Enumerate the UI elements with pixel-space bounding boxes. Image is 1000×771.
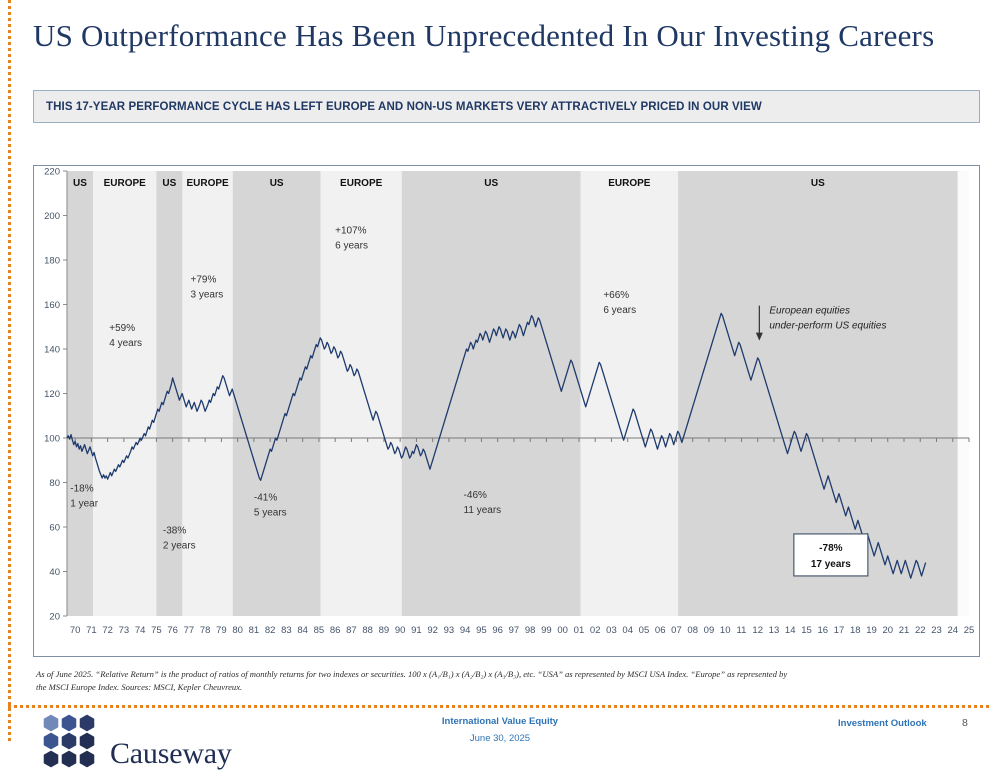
annotation-duration: 6 years [335, 240, 368, 251]
x-tick-label: 02 [590, 625, 601, 636]
subtitle-text: THIS 17-YEAR PERFORMANCE CYCLE HAS LEFT … [46, 101, 762, 113]
x-tick-label: 70 [70, 625, 81, 636]
x-tick-label: 04 [622, 625, 633, 636]
band-label: US [270, 178, 284, 189]
band-label: US [484, 178, 498, 189]
x-tick-label: 03 [606, 625, 617, 636]
boxed-annotation-change: -78% [819, 543, 842, 554]
x-tick-label: 19 [866, 625, 877, 636]
regime-band-europe-1 [93, 171, 156, 616]
x-tick-label: 10 [720, 625, 731, 636]
x-tick-label: 78 [200, 625, 211, 636]
logo-hex-0-1 [62, 715, 77, 732]
x-tick-label: 07 [671, 625, 682, 636]
footer-center: International Value Equity June 30, 2025 [360, 716, 640, 744]
x-tick-label: 91 [411, 625, 422, 636]
x-tick-label: 76 [167, 625, 178, 636]
x-tick-label: 89 [379, 625, 390, 636]
x-tick-label: 21 [899, 625, 910, 636]
y-tick-label: 120 [44, 389, 60, 400]
footnote-line-1: As of June 2025. “Relative Return” is th… [36, 668, 971, 681]
x-tick-label: 99 [541, 625, 552, 636]
annotation-duration: 4 years [109, 338, 142, 349]
x-tick-label: 06 [655, 625, 666, 636]
logo-hex-2-1 [62, 751, 77, 768]
regime-band-us-6 [402, 171, 581, 616]
x-tick-label: 97 [509, 625, 520, 636]
band-label: EUROPE [608, 178, 651, 189]
y-tick-label: 20 [49, 612, 60, 623]
boxed-annotation-duration: 17 years [811, 559, 851, 570]
y-tick-label: 60 [49, 523, 60, 534]
x-tick-label: 93 [444, 625, 455, 636]
annotation-duration: 3 years [191, 289, 224, 300]
annotation-change: +107% [335, 225, 367, 236]
footer-strategy: International Value Equity [360, 716, 640, 727]
x-tick-label: 92 [427, 625, 438, 636]
footer-date: June 30, 2025 [360, 733, 640, 744]
footnote: As of June 2025. “Relative Return” is th… [36, 668, 971, 695]
relative-return-chart: USEUROPEUSEUROPEUSEUROPEUSEUROPEUS204060… [34, 166, 979, 656]
annotation-change: -18% [70, 483, 93, 494]
x-tick-label: 87 [346, 625, 357, 636]
band-label: EUROPE [104, 178, 147, 189]
logo-hex-grid-icon [42, 714, 114, 768]
x-tick-label: 11 [737, 625, 747, 636]
callout-line-1: European equities [769, 306, 850, 317]
x-tick-label: 22 [915, 625, 926, 636]
x-tick-label: 85 [314, 625, 325, 636]
annotation-change: +59% [109, 323, 135, 334]
regime-band-europe-7 [581, 171, 679, 616]
y-tick-label: 140 [44, 345, 60, 356]
x-tick-label: 74 [135, 625, 146, 636]
x-tick-label: 17 [834, 625, 845, 636]
annotation-duration: 1 year [70, 498, 98, 509]
x-tick-label: 09 [704, 625, 715, 636]
x-tick-label: 82 [265, 625, 276, 636]
x-tick-label: 71 [86, 625, 97, 636]
x-tick-label: 14 [785, 625, 796, 636]
x-tick-label: 16 [817, 625, 828, 636]
left-accent-rail [8, 0, 11, 744]
logo-hex-1-1 [62, 733, 77, 750]
x-tick-label: 98 [525, 625, 536, 636]
x-tick-label: 75 [151, 625, 162, 636]
band-label: EUROPE [186, 178, 229, 189]
page-title: US Outperformance Has Been Unprecedented… [33, 18, 973, 54]
band-label: EUROPE [340, 178, 383, 189]
x-tick-label: 13 [769, 625, 780, 636]
chart-container: USEUROPEUSEUROPEUSEUROPEUSEUROPEUS204060… [33, 165, 980, 657]
x-tick-label: 15 [801, 625, 812, 636]
callout-line-2: under-perform US equities [769, 321, 886, 332]
x-tick-label: 24 [947, 625, 958, 636]
annotation-change: -46% [464, 490, 487, 501]
subtitle-banner: THIS 17-YEAR PERFORMANCE CYCLE HAS LEFT … [33, 90, 980, 123]
logo-hex-2-0 [44, 751, 59, 768]
x-tick-label: 73 [119, 625, 130, 636]
regime-band-us-0 [67, 171, 93, 616]
annotation-duration: 5 years [254, 507, 287, 518]
y-tick-label: 100 [44, 434, 60, 445]
annotation-duration: 6 years [603, 305, 636, 316]
regime-band-us-4 [233, 171, 321, 616]
x-tick-label: 05 [639, 625, 650, 636]
x-tick-label: 18 [850, 625, 861, 636]
logo-wordmark: Causeway [110, 737, 232, 771]
y-tick-label: 40 [49, 567, 60, 578]
x-tick-label: 00 [557, 625, 568, 636]
x-tick-label: 12 [752, 625, 763, 636]
footnote-line-2: the MSCI Europe Index. Sources: MSCI, Ke… [36, 681, 971, 694]
x-tick-label: 94 [460, 625, 471, 636]
x-tick-label: 84 [297, 625, 308, 636]
y-tick-label: 200 [44, 211, 60, 222]
annotation-change: +79% [191, 274, 217, 285]
x-tick-label: 77 [184, 625, 195, 636]
page-number: 8 [962, 717, 968, 729]
x-tick-label: 83 [281, 625, 292, 636]
x-tick-label: 25 [964, 625, 975, 636]
band-label: US [811, 178, 825, 189]
x-tick-label: 90 [395, 625, 406, 636]
annotation-change: -38% [163, 526, 186, 537]
band-label: US [73, 178, 87, 189]
annotation-duration: 2 years [163, 541, 196, 552]
logo-hex-2-2 [80, 751, 95, 768]
logo-hex-1-2 [80, 733, 95, 750]
x-tick-label: 72 [102, 625, 113, 636]
y-tick-label: 160 [44, 300, 60, 311]
x-tick-label: 23 [931, 625, 942, 636]
regime-band-europe-5 [321, 171, 402, 616]
x-tick-label: 79 [216, 625, 227, 636]
band-label: US [162, 178, 176, 189]
page-footer: Causeway International Value Equity June… [0, 708, 1000, 767]
annotation-change: -41% [254, 492, 277, 503]
x-tick-label: 08 [687, 625, 698, 636]
annotation-change: +66% [603, 290, 629, 301]
causeway-logo: Causeway [42, 714, 252, 768]
x-tick-label: 88 [362, 625, 373, 636]
logo-hex-0-0 [44, 715, 59, 732]
footer-right-label: Investment Outlook [838, 718, 927, 729]
x-tick-label: 81 [249, 625, 260, 636]
y-tick-label: 220 [44, 167, 60, 178]
x-tick-label: 01 [574, 625, 585, 636]
annotation-duration: 11 years [464, 505, 502, 516]
x-tick-label: 80 [232, 625, 243, 636]
x-tick-label: 20 [882, 625, 893, 636]
logo-hex-0-2 [80, 715, 95, 732]
x-tick-label: 95 [476, 625, 487, 636]
x-tick-label: 96 [492, 625, 503, 636]
x-tick-label: 86 [330, 625, 341, 636]
y-tick-label: 80 [49, 478, 60, 489]
logo-hex-1-0 [44, 733, 59, 750]
y-tick-label: 180 [44, 256, 60, 267]
